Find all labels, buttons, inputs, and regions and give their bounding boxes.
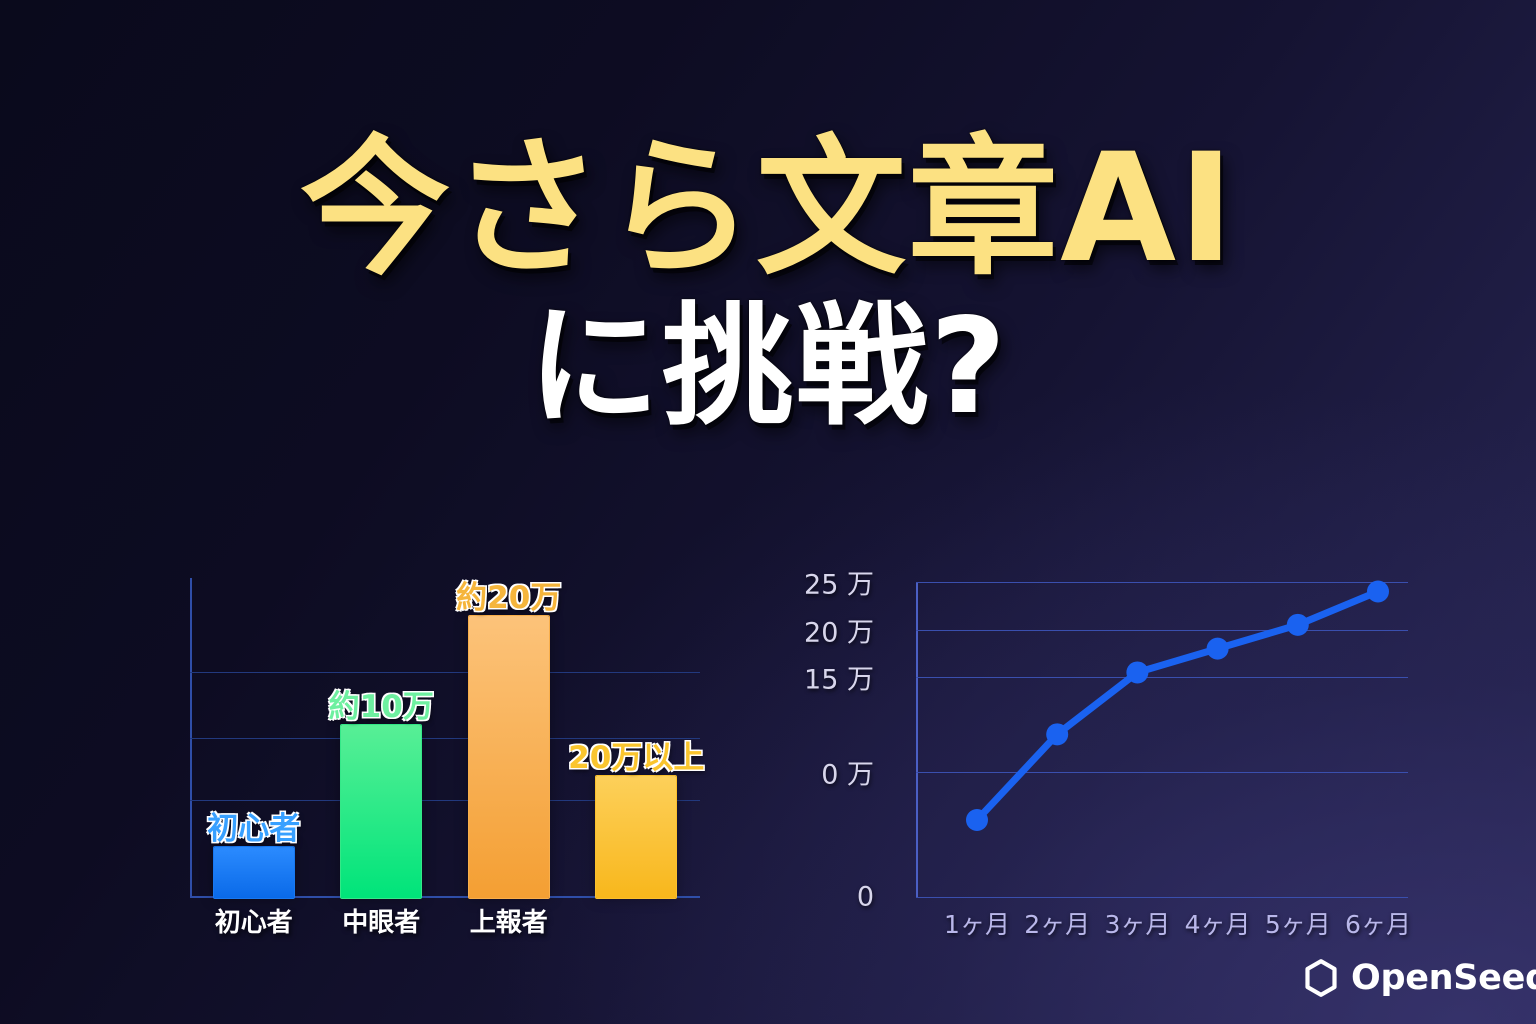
line-chart-x-tick: 3ヶ月 — [1104, 905, 1170, 941]
bar-value-label: 初心者 — [207, 803, 300, 848]
hexagon-icon — [1304, 959, 1338, 997]
title-block: 今さら文章AI に挑戦? — [0, 128, 1536, 442]
line-chart-x-tick: 2ヶ月 — [1024, 905, 1090, 941]
title-line-primary: 今さら文章AI — [0, 128, 1536, 290]
bar-chart-x-tick: 中眼者 — [342, 902, 420, 939]
line-chart-y-tick: 25 万 — [804, 563, 874, 602]
line-chart-y-tick: 0 万 — [821, 753, 874, 792]
bar-value-label: 20万以上 — [568, 732, 704, 777]
line-chart-x-tick: 4ヶ月 — [1185, 905, 1251, 941]
bar-chart: 初心者約10万約20万20万以上 初心者中眼者上報者 — [160, 560, 720, 960]
brand-wordmark: OpenSeeds — [1351, 958, 1536, 998]
line-chart-y-tick: 15 万 — [804, 658, 874, 697]
bar-chart-x-tick-labels: 初心者中眼者上報者 — [190, 902, 700, 942]
bar-chart-plot-area: 初心者約10万約20万20万以上 — [190, 578, 700, 898]
line-chart-x-tick: 5ヶ月 — [1265, 905, 1331, 941]
line-chart: 25 万20 万15 万0 万0 1ヶ月2ヶ月3ヶ月4ヶ月5ヶ月6ヶ月 — [820, 560, 1440, 960]
bar-chart-bar — [214, 847, 294, 898]
bar-chart-bar — [341, 725, 421, 898]
line-chart-x-tick-labels: 1ヶ月2ヶ月3ヶ月4ヶ月5ヶ月6ヶ月 — [916, 905, 1408, 945]
line-chart-x-tick: 6ヶ月 — [1345, 905, 1411, 941]
bar-chart-x-tick: 上報者 — [470, 902, 548, 939]
line-chart-y-tick-labels: 25 万20 万15 万0 万0 — [820, 582, 1408, 897]
bar-value-label: 約10万 — [329, 681, 434, 726]
line-chart-x-tick: 1ヶ月 — [944, 905, 1010, 941]
bar-chart-x-tick: 初心者 — [215, 902, 293, 939]
thumbnail-canvas: 今さら文章AI に挑戦? 初心者約10万約20万20万以上 初心者中眼者上報者 … — [0, 0, 1536, 1024]
bar-value-label: 約20万 — [456, 572, 561, 617]
brand-logo: OpenSeeds — [1304, 958, 1536, 998]
line-chart-gridline — [916, 897, 1408, 898]
line-chart-y-tick: 20 万 — [804, 610, 874, 649]
bar-chart-bar — [596, 776, 676, 898]
bar-chart-bars: 初心者約10万約20万20万以上 — [190, 578, 700, 898]
line-chart-y-tick: 0 — [857, 882, 874, 913]
title-line-secondary: に挑戦? — [0, 294, 1536, 442]
bar-chart-bar — [469, 616, 549, 898]
